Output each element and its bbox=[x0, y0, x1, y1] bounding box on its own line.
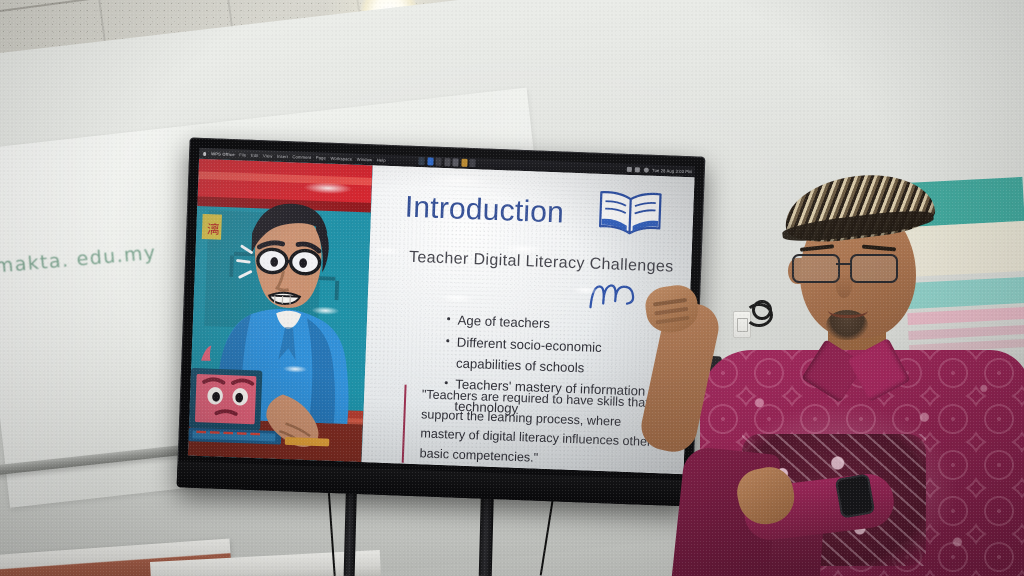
presentation-slide: 漓 bbox=[188, 159, 695, 474]
presenter-speaker bbox=[660, 150, 1024, 576]
menu-item-view[interactable]: View bbox=[263, 153, 273, 158]
app-tile-1[interactable] bbox=[418, 157, 424, 165]
menu-item-help[interactable]: Help bbox=[377, 157, 386, 162]
slide-title: Introduction bbox=[404, 191, 564, 231]
menu-item-comment[interactable]: Comment bbox=[292, 154, 311, 160]
frustrated-teacher-at-laptop-illustration: 漓 bbox=[188, 159, 373, 462]
tv-screen[interactable]: WPS Office File Edit View Insert Comment… bbox=[188, 148, 695, 474]
open-book-icon bbox=[592, 186, 668, 243]
slide-illustration: 漓 bbox=[188, 159, 373, 462]
smartwatch bbox=[835, 473, 875, 518]
wall-mounted-television: WPS Office File Edit View Insert Comment… bbox=[177, 137, 706, 506]
search-icon[interactable] bbox=[626, 167, 631, 172]
control-center-icon[interactable] bbox=[635, 167, 640, 172]
lens-left bbox=[792, 254, 840, 283]
app-tile-5[interactable] bbox=[452, 158, 458, 166]
menu-item-edit[interactable]: Edit bbox=[251, 153, 259, 158]
menu-item-window[interactable]: Window bbox=[357, 157, 373, 163]
app-tile-4[interactable] bbox=[444, 158, 450, 166]
wifi-icon[interactable] bbox=[643, 167, 648, 172]
menu-item-workspace[interactable]: Workspace bbox=[330, 156, 352, 162]
menu-item-page[interactable]: Page bbox=[316, 155, 326, 160]
app-tile-3[interactable] bbox=[435, 158, 441, 166]
app-tile-2[interactable] bbox=[427, 157, 433, 165]
lens-right bbox=[850, 254, 898, 283]
app-tile-6[interactable] bbox=[461, 159, 467, 167]
svg-text:漓: 漓 bbox=[207, 221, 220, 236]
menu-item-app[interactable]: WPS Office bbox=[211, 151, 235, 157]
apple-menu-icon[interactable] bbox=[202, 150, 207, 156]
menu-item-file[interactable]: File bbox=[239, 152, 246, 157]
app-tile-7[interactable] bbox=[469, 159, 475, 167]
mouth bbox=[828, 302, 868, 318]
glasses-bridge bbox=[836, 263, 850, 265]
slide-quote: "Teachers are required to have skills th… bbox=[401, 385, 662, 473]
nose bbox=[836, 274, 852, 298]
menu-item-insert[interactable]: Insert bbox=[277, 154, 288, 159]
eyeglasses bbox=[792, 254, 916, 280]
classroom-presentation-photo: yomakta. edu.my WPS Office File Edit Vie… bbox=[0, 0, 1024, 576]
menubar-app-tiles bbox=[418, 157, 475, 167]
handwritten-scribble bbox=[587, 278, 644, 314]
